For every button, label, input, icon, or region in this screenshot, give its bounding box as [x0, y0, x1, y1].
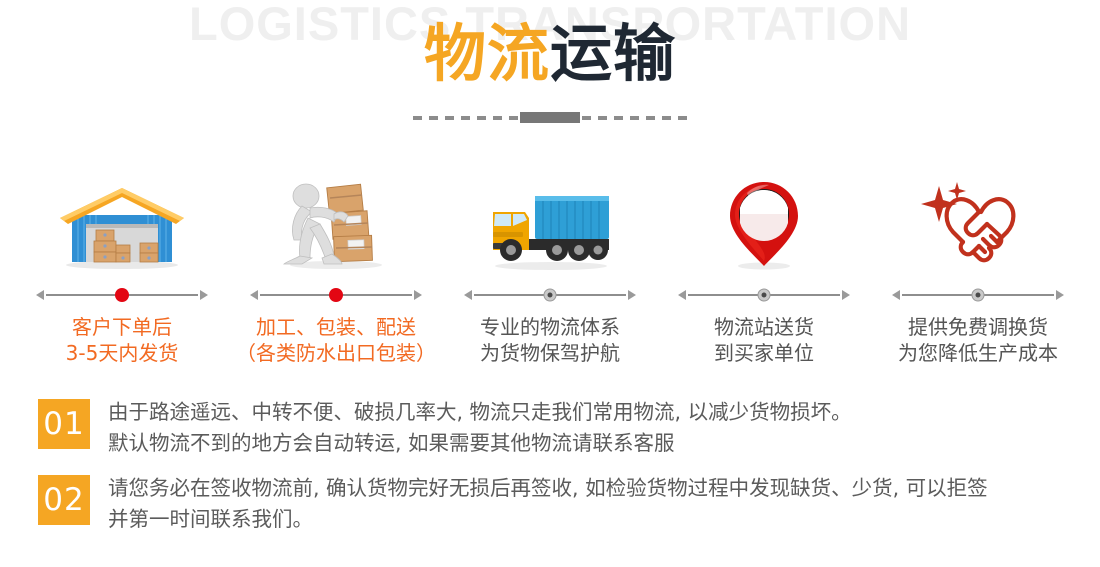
card-divider — [464, 288, 636, 302]
card-divider — [892, 288, 1064, 302]
page-title-orange: 物流 — [424, 20, 550, 89]
warehouse-icon — [56, 178, 188, 270]
worker-pushing-boxes-icon — [276, 178, 396, 270]
arrow-left-icon — [678, 290, 686, 300]
note-item: 01 由于路途遥远、中转不便、破损几率大, 物流只走我们常用物流, 以减少货物损… — [38, 397, 1062, 459]
notes-section: 01 由于路途遥远、中转不便、破损几率大, 物流只走我们常用物流, 以减少货物损… — [0, 397, 1100, 536]
feature-caption: 专业的物流体系 为货物保驾护航 — [480, 314, 620, 367]
arrow-right-icon — [200, 290, 208, 300]
feature-card: 客户下单后 3-5天内发货 — [22, 178, 222, 367]
page-title: 物流运输 — [0, 24, 1100, 86]
map-pin-icon — [721, 178, 807, 270]
divider-knob — [972, 289, 985, 302]
divider-knob — [115, 288, 129, 302]
title-divider — [0, 112, 1100, 123]
divider-dash-right — [582, 116, 687, 120]
divider-knob — [758, 289, 771, 302]
arrow-right-icon — [414, 290, 422, 300]
divider-knob — [329, 288, 343, 302]
feature-card: 物流站送货 到买家单位 — [664, 178, 864, 367]
feature-card: 加工、包装、配送 （各类防水出口包装） — [236, 178, 436, 367]
feature-caption: 客户下单后 3-5天内发货 — [66, 314, 179, 367]
card-divider — [250, 288, 422, 302]
card-divider — [36, 288, 208, 302]
arrow-right-icon — [628, 290, 636, 300]
feature-caption: 加工、包装、配送 （各类防水出口包装） — [236, 314, 436, 367]
feature-card-row: 客户下单后 3-5天内发货 — [0, 140, 1100, 367]
arrow-left-icon — [250, 290, 258, 300]
feature-card: 提供免费调换货 为您降低生产成本 — [878, 178, 1078, 367]
divider-dash-left — [413, 116, 518, 120]
feature-caption: 提供免费调换货 为您降低生产成本 — [898, 314, 1058, 367]
note-text: 请您务必在签收物流前, 确认货物完好无损后再签收, 如检验货物过程中发现缺货、少… — [108, 473, 988, 535]
note-item: 02 请您务必在签收物流前, 确认货物完好无损后再签收, 如检验货物过程中发现缺… — [38, 473, 1062, 535]
divider-block — [520, 112, 580, 123]
arrow-left-icon — [36, 290, 44, 300]
divider-knob — [544, 289, 557, 302]
container-truck-icon — [485, 178, 615, 270]
page-title-dark: 运输 — [550, 20, 676, 89]
heart-handshake-icon — [919, 178, 1037, 270]
feature-card: 专业的物流体系 为货物保驾护航 — [450, 178, 650, 367]
arrow-left-icon — [892, 290, 900, 300]
feature-caption: 物流站送货 到买家单位 — [714, 314, 814, 367]
note-number-badge: 02 — [38, 475, 90, 525]
note-number-badge: 01 — [38, 399, 90, 449]
page-header: LOGISTICS TRANSPORTATION 物流运输 — [0, 0, 1100, 140]
note-text: 由于路途遥远、中转不便、破损几率大, 物流只走我们常用物流, 以减少货物损坏。 … — [108, 397, 852, 459]
arrow-right-icon — [842, 290, 850, 300]
card-divider — [678, 288, 850, 302]
arrow-right-icon — [1056, 290, 1064, 300]
arrow-left-icon — [464, 290, 472, 300]
